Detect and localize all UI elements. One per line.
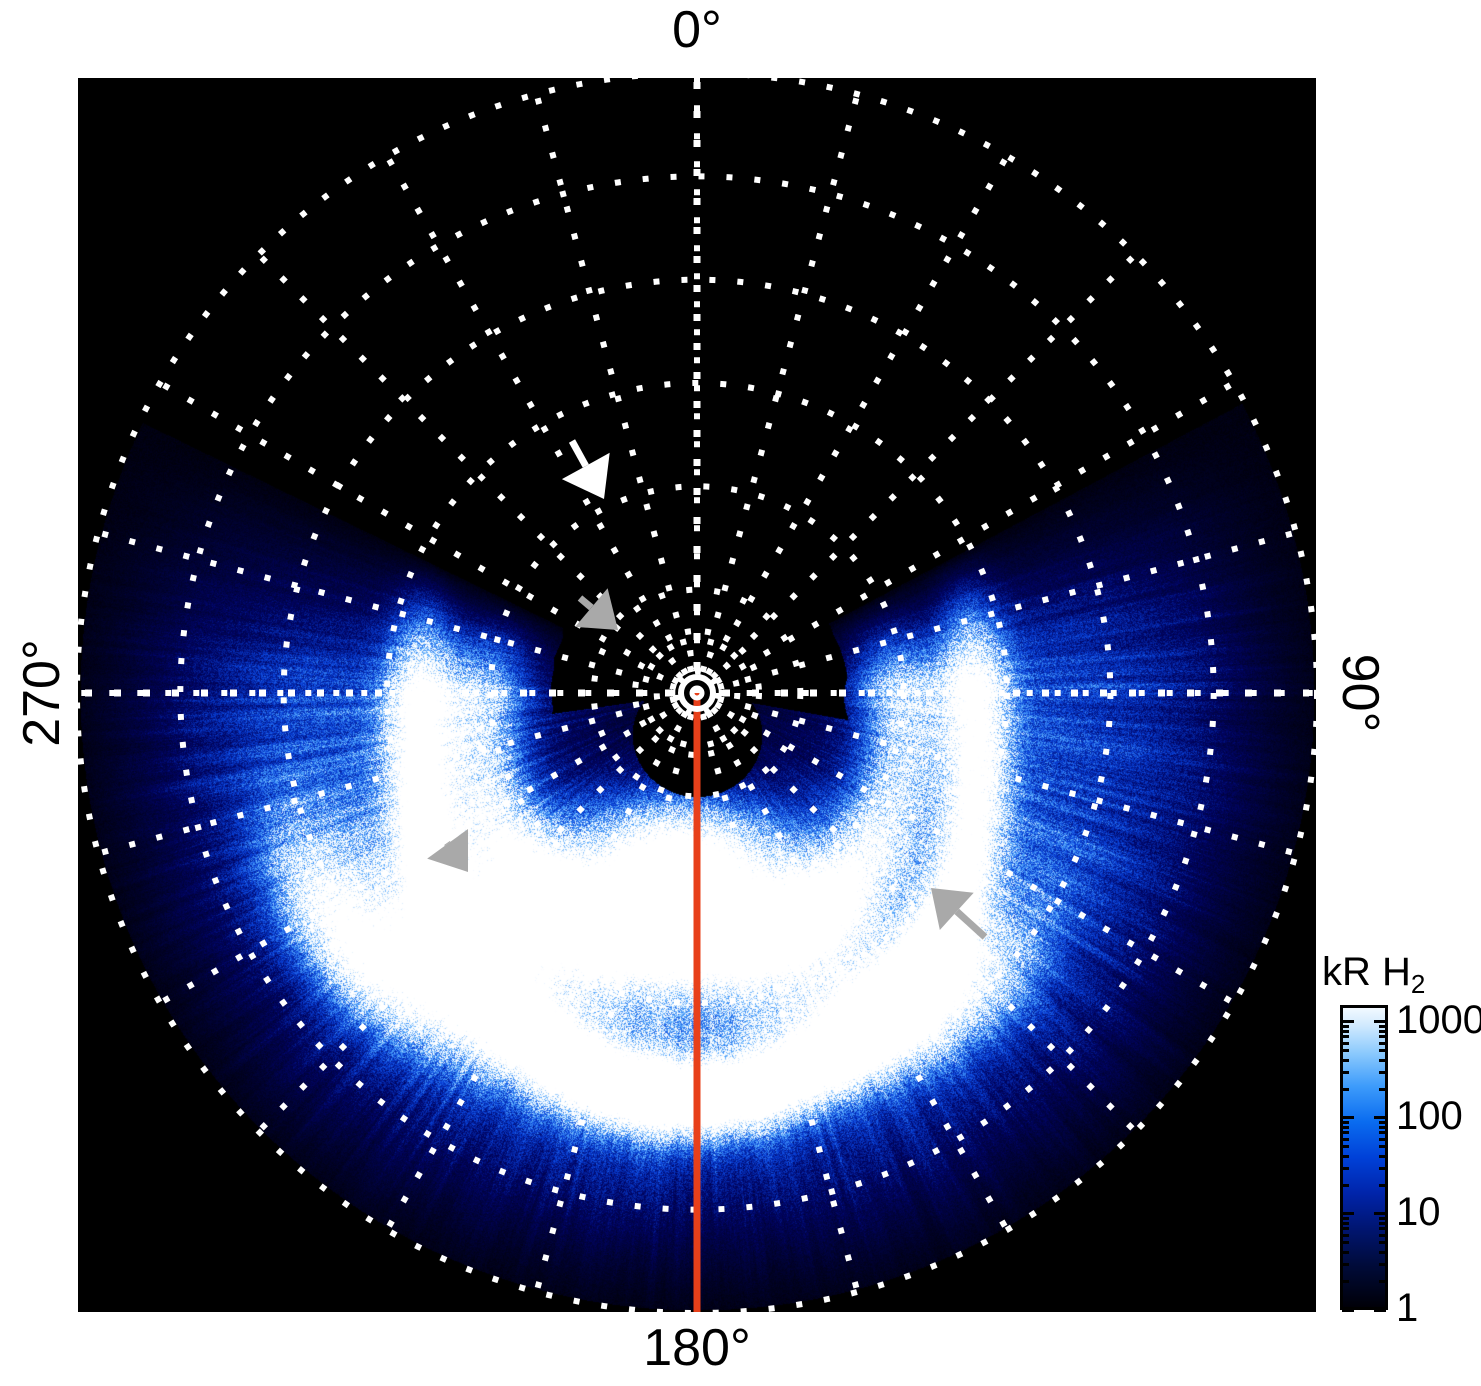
colorbar-tick bbox=[1342, 1251, 1349, 1254]
colorbar-tick bbox=[1379, 1030, 1386, 1033]
colorbar-tick bbox=[1342, 1309, 1354, 1312]
colorbar-tick bbox=[1379, 1241, 1386, 1244]
axis-label-270: 270° bbox=[16, 633, 68, 753]
figure-container: 0° 180° 270° 90° kR H2 1000 100 10 1 bbox=[0, 0, 1481, 1386]
colorbar-tick bbox=[1342, 1020, 1354, 1023]
colorbar-tick bbox=[1374, 1212, 1386, 1215]
colorbar-tick bbox=[1379, 1280, 1386, 1283]
gray-arrow-left-shaft bbox=[447, 843, 448, 844]
gray-arrow-left-head bbox=[427, 829, 468, 872]
colorbar-tick bbox=[1342, 1217, 1349, 1220]
colorbar-label-10: 10 bbox=[1396, 1192, 1441, 1232]
colorbar-tick bbox=[1379, 1145, 1386, 1148]
colorbar-tick bbox=[1379, 1138, 1386, 1141]
colorbar-tick bbox=[1374, 1020, 1386, 1023]
gray-arrow-upper-head bbox=[575, 588, 618, 630]
colorbar-tick bbox=[1342, 1059, 1349, 1062]
colorbar-tick bbox=[1342, 1131, 1349, 1134]
colorbar-tick bbox=[1374, 1309, 1386, 1312]
colorbar-tick bbox=[1379, 1035, 1386, 1038]
colorbar-tick bbox=[1342, 1167, 1349, 1170]
colorbar-tick bbox=[1379, 1088, 1386, 1091]
gray-arrow-upper-shaft bbox=[580, 598, 591, 608]
colorbar-tick bbox=[1374, 1116, 1386, 1119]
colorbar-tick bbox=[1342, 1241, 1349, 1244]
colorbar-tick bbox=[1379, 1263, 1386, 1266]
colorbar-tick bbox=[1342, 1184, 1349, 1187]
colorbar-tick bbox=[1379, 1071, 1386, 1074]
colorbar-tick bbox=[1342, 1155, 1349, 1158]
colorbar-title-subscript: 2 bbox=[1411, 969, 1425, 999]
colorbar-tick bbox=[1379, 1222, 1386, 1225]
colorbar-label-1000: 1000 bbox=[1396, 1000, 1481, 1040]
axis-label-0: 0° bbox=[0, 4, 1394, 56]
colorbar-label-1: 1 bbox=[1396, 1288, 1418, 1328]
colorbar: kR H2 1000 100 10 1 bbox=[1322, 950, 1481, 1330]
colorbar-tick bbox=[1342, 1222, 1349, 1225]
gray-arrow-right-shaft bbox=[957, 911, 985, 937]
colorbar-tick bbox=[1342, 1126, 1349, 1129]
colorbar-tick bbox=[1379, 1217, 1386, 1220]
colorbar-tick bbox=[1379, 1121, 1386, 1124]
colorbar-label-100: 100 bbox=[1396, 1096, 1463, 1136]
colorbar-tick bbox=[1342, 1071, 1349, 1074]
colorbar-tick bbox=[1342, 1212, 1354, 1215]
colorbar-tick bbox=[1379, 1049, 1386, 1052]
colorbar-tick bbox=[1379, 1155, 1386, 1158]
polar-grid-overlay bbox=[78, 78, 1316, 1312]
colorbar-tick bbox=[1342, 1145, 1349, 1148]
axis-label-180: 180° bbox=[0, 1322, 1394, 1374]
colorbar-tick bbox=[1342, 1280, 1349, 1283]
colorbar-tick bbox=[1342, 1227, 1349, 1230]
white-arrow-upper-shaft bbox=[572, 441, 586, 466]
colorbar-title: kR H2 bbox=[1322, 950, 1425, 995]
colorbar-tick bbox=[1342, 1042, 1349, 1045]
colorbar-tick bbox=[1379, 1059, 1386, 1062]
colorbar-tick bbox=[1379, 1131, 1386, 1134]
colorbar-tick bbox=[1342, 1035, 1349, 1038]
colorbar-tick bbox=[1342, 1234, 1349, 1237]
colorbar-tick bbox=[1379, 1251, 1386, 1254]
colorbar-tick bbox=[1379, 1042, 1386, 1045]
colorbar-tick bbox=[1379, 1167, 1386, 1170]
colorbar-tick bbox=[1379, 1025, 1386, 1028]
colorbar-tick bbox=[1379, 1184, 1386, 1187]
colorbar-title-text: kR H bbox=[1322, 950, 1411, 994]
colorbar-tick bbox=[1342, 1263, 1349, 1266]
colorbar-tick bbox=[1342, 1030, 1349, 1033]
colorbar-tick bbox=[1342, 1049, 1349, 1052]
colorbar-tick bbox=[1379, 1227, 1386, 1230]
colorbar-tick bbox=[1379, 1126, 1386, 1129]
axis-label-90: 90° bbox=[1334, 633, 1386, 753]
colorbar-tick bbox=[1379, 1234, 1386, 1237]
colorbar-tick bbox=[1342, 1088, 1349, 1091]
colorbar-tick bbox=[1342, 1025, 1349, 1028]
colorbar-tick bbox=[1342, 1121, 1349, 1124]
colorbar-tick bbox=[1342, 1116, 1354, 1119]
polar-plot-area bbox=[78, 78, 1316, 1312]
colorbar-tick bbox=[1342, 1138, 1349, 1141]
